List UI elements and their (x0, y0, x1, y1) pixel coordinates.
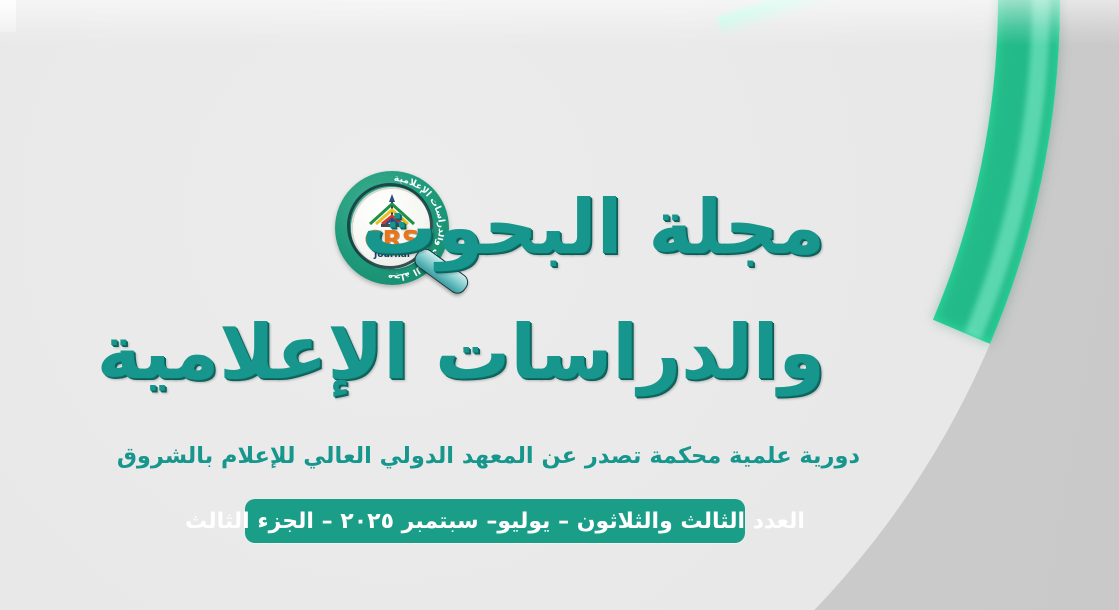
journal-subtitle: دورية علمية محكمة تصدر عن المعهد الدولي … (140, 443, 860, 469)
issue-badge-label: العدد الثالث والثلاثون – يوليو– سبتمبر ٢… (185, 509, 805, 534)
journal-title-line-1: مجلة البحوث (455, 190, 825, 265)
issue-badge: العدد الثالث والثلاثون – يوليو– سبتمبر ٢… (245, 499, 745, 543)
journal-title-line-2: والدراسات الإعلامية (205, 315, 825, 390)
journal-cover: مجلة البحوث والدراسات الإعلامية CRS Jour… (0, 0, 1119, 610)
